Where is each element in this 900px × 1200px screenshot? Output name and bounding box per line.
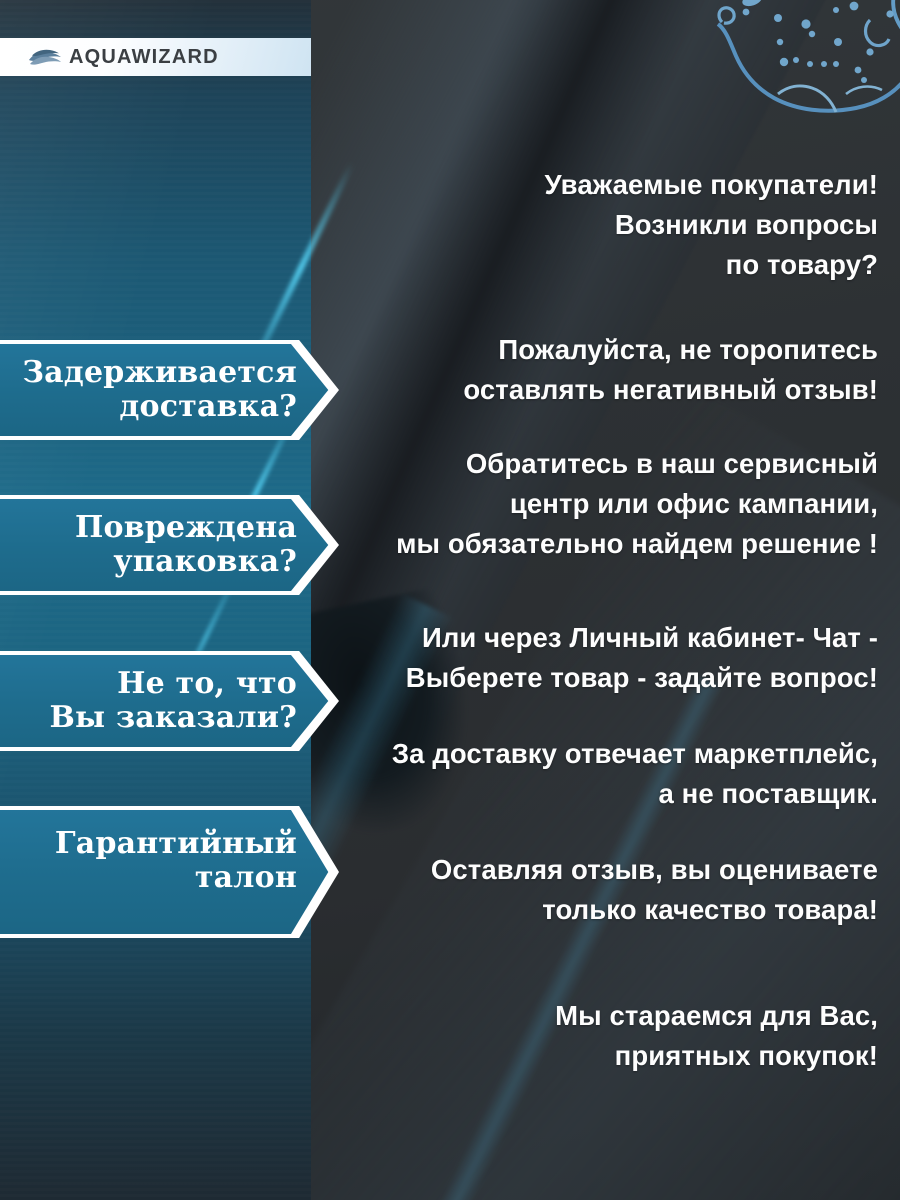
- message-paragraph-no-negative-review: Пожалуйста, не торопитесь оставлять нега…: [318, 330, 878, 410]
- badge-label: Задерживается доставка?: [0, 340, 339, 440]
- brand-logo-bar: AQUAWIZARD: [0, 38, 311, 76]
- badge-label: Не то, что Вы заказали?: [0, 651, 339, 751]
- badge-delivery-delayed[interactable]: Задерживается доставка?: [0, 340, 339, 440]
- message-paragraph-delivery-responsibility: За доставку отвечает маркетплейс, а не п…: [318, 734, 878, 814]
- brand-logo-text: AQUAWIZARD: [69, 47, 219, 67]
- badge-wrong-item[interactable]: Не то, что Вы заказали?: [0, 651, 339, 751]
- badge-warranty-card[interactable]: Гарантийный талон: [0, 806, 339, 938]
- message-column: Уважаемые покупатели! Возникли вопросы п…: [320, 0, 900, 1200]
- badge-label: Гарантийный талон: [0, 806, 339, 938]
- promo-banner: AQUAWIZARD Задерживается доставка? Повре…: [0, 0, 900, 1200]
- message-paragraph-service-center: Обратитесь в наш сервисный центр или офи…: [318, 444, 878, 564]
- message-paragraph-closing: Мы стараемся для Вас, приятных покупок!: [318, 996, 878, 1076]
- wave-icon: [28, 47, 62, 67]
- badge-damaged-packaging[interactable]: Повреждена упаковка?: [0, 495, 339, 595]
- message-paragraph-personal-account-chat: Или через Личный кабинет- Чат - Выберете…: [318, 618, 878, 698]
- issue-badge-list: Задерживается доставка? Повреждена упако…: [0, 0, 360, 1200]
- message-paragraph-review-quality-only: Оставляя отзыв, вы оцениваете только кач…: [318, 850, 878, 930]
- message-paragraph-greeting: Уважаемые покупатели! Возникли вопросы п…: [318, 165, 878, 285]
- badge-label: Повреждена упаковка?: [0, 495, 339, 595]
